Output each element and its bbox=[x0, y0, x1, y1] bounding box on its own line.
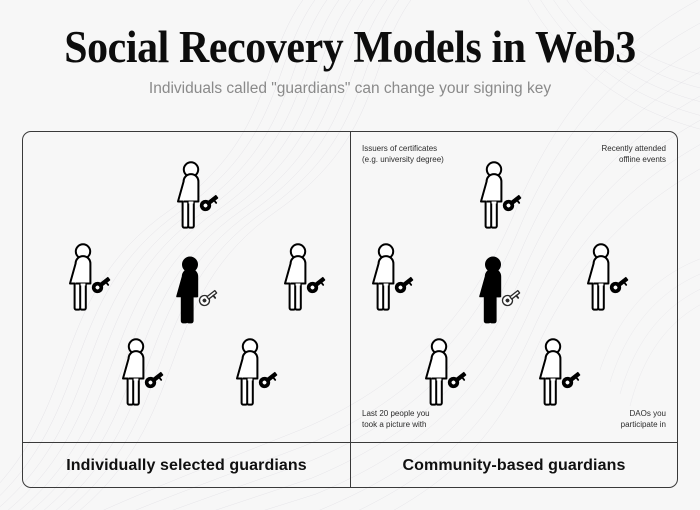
guardian-figure-3 bbox=[278, 242, 334, 318]
footer-row: Individually selected guardians Communit… bbox=[23, 442, 677, 488]
panel-individually-selected bbox=[23, 132, 350, 442]
panel-community-based: Issuers of certificates (e.g. university… bbox=[350, 132, 677, 442]
annotation-recently-attended-offline-events: Recently attended offline events bbox=[602, 144, 667, 165]
panels-row: Issuers of certificates (e.g. university… bbox=[23, 132, 677, 442]
guardian-figure-1 bbox=[171, 160, 227, 236]
guardian-figure-3 bbox=[581, 242, 637, 318]
footer-cell-individually-selected: Individually selected guardians bbox=[23, 443, 350, 488]
guardian-figure-2 bbox=[366, 242, 422, 318]
page-subtitle: Individuals called "guardians" can chang… bbox=[0, 79, 700, 99]
guardian-figure-4 bbox=[116, 337, 172, 413]
guardian-figure-2 bbox=[63, 242, 119, 318]
footer-label-community-based: Community-based guardians bbox=[403, 457, 626, 475]
guardian-figure-1 bbox=[474, 160, 530, 236]
infographic-page: Social Recovery Models in Web3 Individua… bbox=[0, 0, 700, 510]
key-owner-figure bbox=[473, 255, 529, 331]
annotation-issuers-of-certificates: Issuers of certificates (e.g. university… bbox=[362, 144, 444, 165]
key-owner-figure bbox=[170, 255, 226, 331]
annotation-daos-you-participate-in: DAOs you participate in bbox=[621, 409, 666, 430]
diagram-frame: Issuers of certificates (e.g. university… bbox=[22, 131, 678, 488]
footer-cell-community-based: Community-based guardians bbox=[350, 443, 677, 488]
guardian-figure-5 bbox=[230, 337, 286, 413]
page-title: Social Recovery Models in Web3 bbox=[25, 22, 676, 72]
header: Social Recovery Models in Web3 Individua… bbox=[0, 0, 700, 99]
footer-label-individually-selected: Individually selected guardians bbox=[66, 457, 307, 475]
guardian-figure-4 bbox=[419, 337, 475, 413]
guardian-figure-5 bbox=[533, 337, 589, 413]
